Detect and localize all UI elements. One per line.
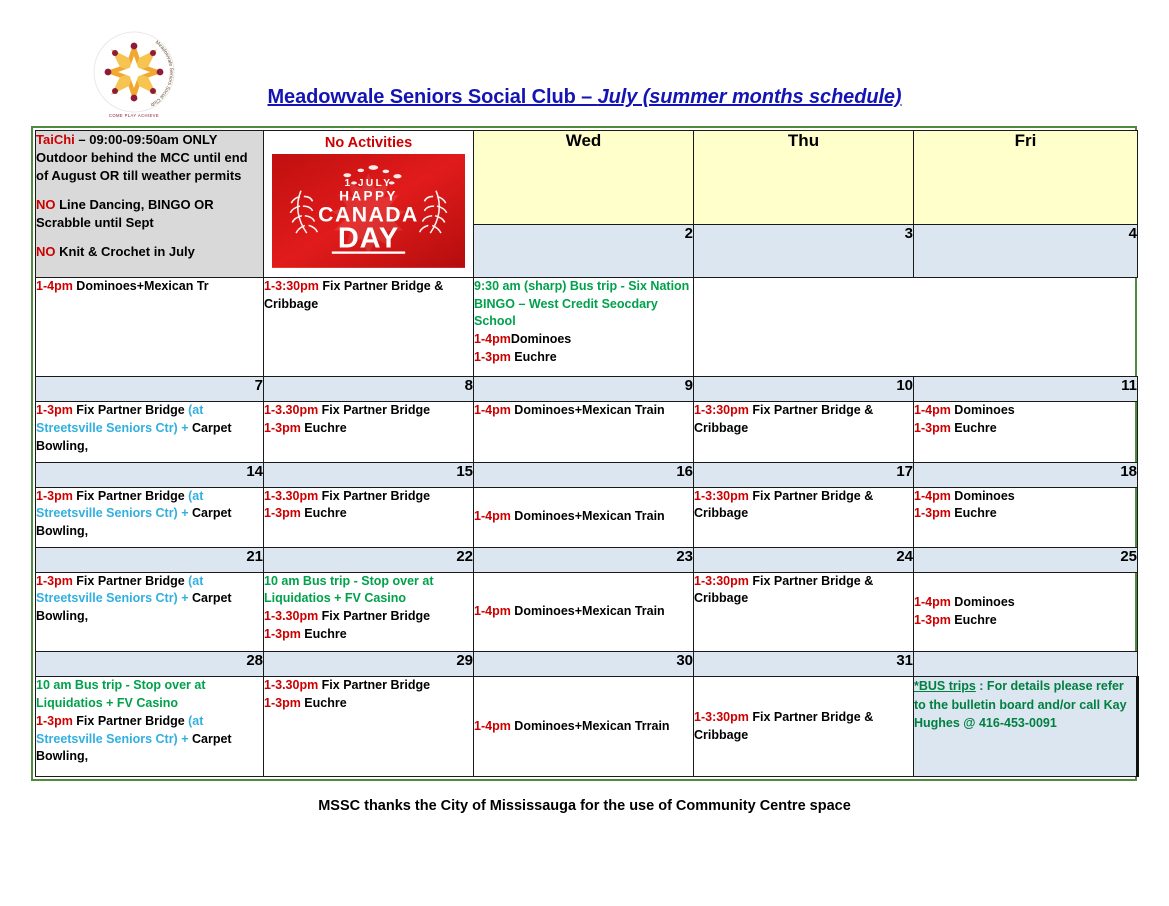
date-cell: 3 [694,224,914,277]
date-cell: 23 [474,547,694,572]
canada-day-image: 1 JULYHAPPYCANADADAY [272,154,465,268]
event-cell: 1-3pm Fix Partner Bridge (at Streetsvill… [36,487,264,547]
event-cell: 1-4pm Dominoes1-3pm Euchre [914,572,1138,652]
event-cell: 1-3:30pm Fix Partner Bridge & Cribbage [694,677,914,777]
event-row-week-5: 10 am Bus trip - Stop over at Liquidatio… [36,677,1138,777]
event-row-week-1: 1-4pm Dominoes+Mexican Tr1-3:30pm Fix Pa… [36,277,1138,377]
no-activities-cell: No Activities1 JULYHAPPYCANADADAY [264,131,474,278]
bus-trips-note-cell: *BUS trips : For details please refer to… [914,677,1138,777]
date-cell: 9 [474,377,694,402]
date-cell: 10 [694,377,914,402]
date-cell: 18 [914,462,1138,487]
date-cell: 24 [694,547,914,572]
date-cell: 28 [36,652,264,677]
canada-day-line2: HAPPY [339,188,398,203]
event-row-week-2: 1-3pm Fix Partner Bridge (at Streetsvill… [36,402,1138,462]
date-cell [914,652,1138,677]
event-cell: 1-3pm Fix Partner Bridge (at Streetsvill… [36,402,264,462]
date-cell: 7 [36,377,264,402]
page-title: Meadowvale Seniors Social Club – July (s… [0,86,1169,109]
date-cell: 25 [914,547,1138,572]
date-cell: 30 [474,652,694,677]
footer-note: MSSC thanks the City of Mississauga for … [0,798,1169,814]
event-cell: 1-4pm Dominoes+Mexican Trrain [474,677,694,777]
event-cell: 1-4pm Dominoes+Mexican Train [474,402,694,462]
date-cell: 8 [264,377,474,402]
event-row-week-3: 1-3pm Fix Partner Bridge (at Streetsvill… [36,487,1138,547]
calendar-table-frame: TaiChi – 09:00-09:50am ONLY Outdoor behi… [31,126,1137,781]
event-cell: 10 am Bus trip - Stop over at Liquidatio… [264,572,474,652]
date-cell: 21 [36,547,264,572]
date-cell: 22 [264,547,474,572]
date-cell: 17 [694,462,914,487]
date-cell: 11 [914,377,1138,402]
date-cell: 4 [914,224,1138,277]
canada-day-line4: DAY [338,223,399,255]
date-row-week-3: 1415161718 [36,462,1138,487]
title-italic: July (summer months schedule) [598,86,902,108]
date-cell: 15 [264,462,474,487]
date-cell: 16 [474,462,694,487]
calendar-header-row: TaiChi – 09:00-09:50am ONLY Outdoor behi… [36,131,1138,225]
canada-day-banner: 1 JULYHAPPYCANADADAY [264,154,473,277]
date-cell: 2 [474,224,694,277]
day-header-wed: Wed [474,131,694,225]
date-row-week-4: 2122232425 [36,547,1138,572]
event-cell: 1-3:30pm Fix Partner Bridge & Cribbage [694,487,914,547]
event-row-week-4: 1-3pm Fix Partner Bridge (at Streetsvill… [36,572,1138,652]
event-cell: 1-3:30pm Fix Partner Bridge & Cribbage [264,277,474,377]
event-cell: 1-4pm Dominoes1-3pm Euchre [914,487,1138,547]
day-header-thu: Thu [694,131,914,225]
event-cell: 1-3.30pm Fix Partner Bridge1-3pm Euchre [264,487,474,547]
date-row-week-5: 28293031 [36,652,1138,677]
event-cell: 1-3:30pm Fix Partner Bridge & Cribbage [694,402,914,462]
event-cell: 1-3:30pm Fix Partner Bridge & Cribbage [694,572,914,652]
notice-cell: TaiChi – 09:00-09:50am ONLY Outdoor behi… [36,131,264,278]
event-cell: 1-3.30pm Fix Partner Bridge1-3pm Euchre [264,677,474,777]
date-row-week-2: 7891011 [36,377,1138,402]
day-header-fri: Fri [914,131,1138,225]
event-cell: 1-4pm Dominoes1-3pm Euchre [914,402,1138,462]
date-cell: 29 [264,652,474,677]
calendar-table: TaiChi – 09:00-09:50am ONLY Outdoor behi… [35,130,1139,777]
date-cell: 31 [694,652,914,677]
title-main: Meadowvale Seniors Social Club – [268,86,598,108]
event-cell: 1-4pm Dominoes+Mexican Train [474,572,694,652]
canada-day-line1: 1 JULY [345,178,393,189]
event-cell: 1-3pm Fix Partner Bridge (at Streetsvill… [36,572,264,652]
event-cell: 1-3.30pm Fix Partner Bridge1-3pm Euchre [264,402,474,462]
event-cell: 9:30 am (sharp) Bus trip - Six Nation BI… [474,277,694,377]
event-cell: 1-4pm Dominoes+Mexican Tr [36,277,264,377]
bus-trips-note-title: *BUS trips [914,679,976,693]
event-cell: 1-4pm Dominoes+Mexican Train [474,487,694,547]
no-activities-label: No Activities [264,131,473,154]
date-cell: 14 [36,462,264,487]
event-cell: 10 am Bus trip - Stop over at Liquidatio… [36,677,264,777]
logo-motto: COME PLAY ACHIEVE [109,113,159,118]
calendar-page: COME PLAY ACHIEVE Meadowvale Seniors Soc… [0,0,1169,906]
